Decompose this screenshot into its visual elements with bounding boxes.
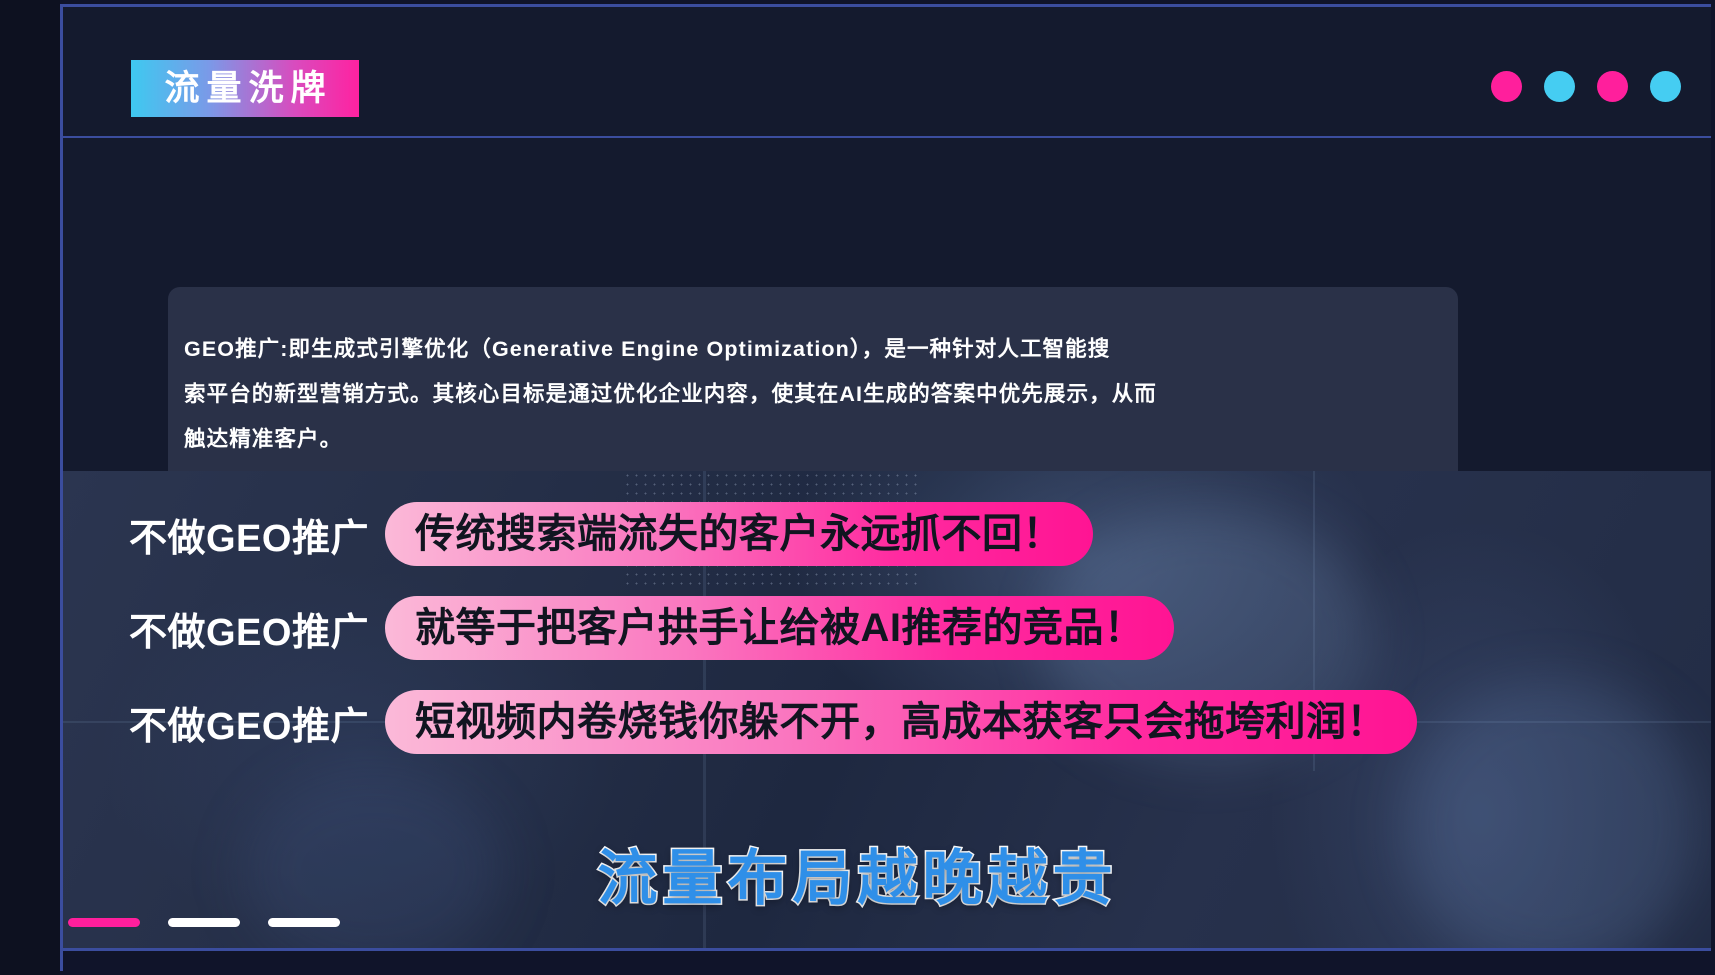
claim-text: 就等于把客户拱手让给被AI推荐的竞品！: [415, 608, 1145, 648]
frame-border-bottom: [60, 948, 1711, 951]
info-section: GEO推广:即生成式引擎优化（Generative Engine Optimiz…: [63, 138, 1711, 471]
claim-row: 不做GEO推广 短视频内卷烧钱你躲不开，高成本获客只会拖垮利润！: [63, 689, 1417, 755]
header-bar: 流量洗牌: [63, 7, 1711, 136]
info-line-1: GEO推广:即生成式引擎优化（Generative Engine Optimiz…: [184, 327, 1434, 372]
header-dot-group: [1491, 71, 1681, 102]
info-line-3: 触达精准客户。: [184, 417, 1434, 462]
info-line-2: 索平台的新型营销方式。其核心目标是通过优化企业内容，使其在AI生成的答案中优先展…: [184, 372, 1434, 417]
dash-accent-icon: [68, 918, 140, 927]
claim-label: 不做GEO推广: [129, 601, 369, 656]
page-title: 流量洗牌: [157, 71, 332, 106]
claim-pill: 传统搜索端流失的客户永远抓不回！: [385, 502, 1093, 566]
claim-text: 传统搜索端流失的客户永远抓不回！: [415, 514, 1063, 554]
dot-magenta-2-icon: [1597, 71, 1628, 102]
claim-text: 短视频内卷烧钱你躲不开，高成本获客只会拖垮利润！: [415, 702, 1387, 742]
bottom-dash-group: [68, 918, 340, 927]
claim-row-list: 不做GEO推广 传统搜索端流失的客户永远抓不回！ 不做GEO推广 就等于把客户拱…: [63, 471, 1711, 761]
dot-magenta-1-icon: [1491, 71, 1522, 102]
claim-label: 不做GEO推广: [129, 695, 369, 750]
dot-cyan-1-icon: [1544, 71, 1575, 102]
poster-root: 流量洗牌 GEO推广:即生成式引擎优化（Generative Engine Op…: [0, 0, 1715, 975]
left-edge-strip: [0, 0, 60, 975]
claim-label: 不做GEO推广: [129, 507, 369, 562]
dash-white-1-icon: [168, 918, 240, 927]
claim-pill: 短视频内卷烧钱你躲不开，高成本获客只会拖垮利润！: [385, 690, 1417, 754]
dash-white-2-icon: [268, 918, 340, 927]
claim-row: 不做GEO推广 传统搜索端流失的客户永远抓不回！: [63, 501, 1093, 567]
dot-cyan-2-icon: [1650, 71, 1681, 102]
claim-row: 不做GEO推广 就等于把客户拱手让给被AI推荐的竞品！: [63, 595, 1174, 661]
bottom-headline: 流量布局越晚越贵: [0, 830, 1715, 917]
claim-pill: 就等于把客户拱手让给被AI推荐的竞品！: [385, 596, 1175, 660]
title-badge: 流量洗牌: [131, 60, 359, 117]
